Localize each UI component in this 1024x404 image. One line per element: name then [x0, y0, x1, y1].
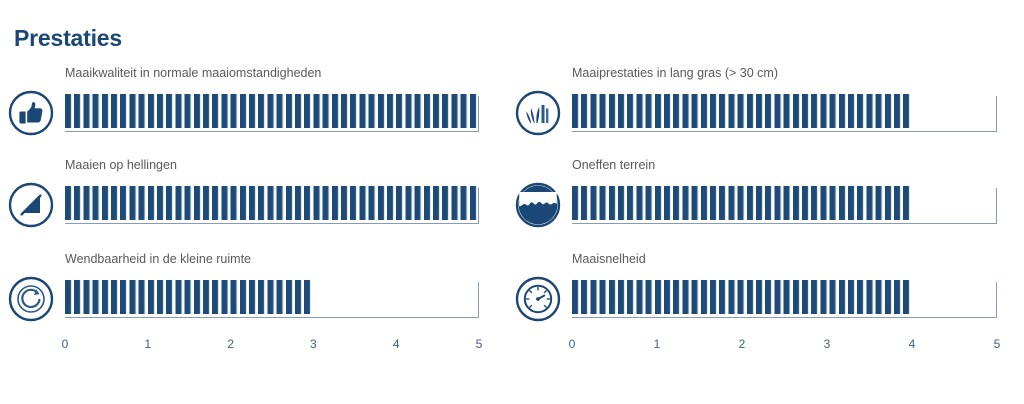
scale-tick-label: 4: [393, 336, 400, 352]
metric-bar-fill: [572, 94, 912, 128]
axis-baseline: [572, 131, 997, 132]
metric-row: Maaien op hellingen: [8, 150, 508, 242]
scale-tick-label: 3: [824, 336, 831, 352]
scale-tick-label: 0: [62, 336, 69, 352]
scale-tick-label: 4: [909, 336, 916, 352]
scale-tick-label: 2: [227, 336, 234, 352]
performance-chart: Maaikwaliteit in normale maaiomstandighe…: [0, 58, 1024, 388]
metric-bar-fill: [572, 186, 912, 220]
thumbs-up-icon: [8, 90, 54, 136]
metric-bar-fill: [572, 280, 912, 314]
metric-label: Wendbaarheid in de kleine ruimte: [65, 251, 251, 267]
metrics-column-right: Maaiprestaties in lang gras (> 30 cm) On…: [515, 58, 1015, 388]
metric-row: Maaikwaliteit in normale maaiomstandighe…: [8, 58, 508, 150]
metric-bar-track: [65, 90, 479, 136]
scale-tick-label: 3: [310, 336, 317, 352]
scale-tick-label: 1: [144, 336, 151, 352]
scale-tick-label: 5: [476, 336, 483, 352]
axis-baseline: [572, 223, 997, 224]
axis-endcap: [478, 282, 479, 318]
metrics-column-left: Maaikwaliteit in normale maaiomstandighe…: [8, 58, 508, 388]
metric-bar-fill: [65, 94, 479, 128]
metric-row: Oneffen terrein: [515, 150, 1015, 242]
uneven-terrain-icon: [515, 182, 561, 228]
slope-icon: [8, 182, 54, 228]
metric-bar-track: [572, 276, 997, 322]
scale-axis-right: 012345: [572, 336, 997, 358]
scale-axis-left: 012345: [65, 336, 479, 358]
axis-baseline: [65, 223, 479, 224]
metric-row: Maaisnelheid: [515, 244, 1015, 336]
metric-label: Maaiprestaties in lang gras (> 30 cm): [572, 65, 778, 81]
metric-bar-track: [572, 182, 997, 228]
speedometer-icon: [515, 276, 561, 322]
axis-endcap: [996, 282, 997, 318]
metric-bar-track: [572, 90, 997, 136]
scale-tick-label: 2: [739, 336, 746, 352]
axis-endcap: [996, 188, 997, 224]
axis-endcap: [478, 188, 479, 224]
page-title: Prestaties: [14, 23, 122, 53]
scale-tick-label: 5: [994, 336, 1001, 352]
axis-baseline: [65, 131, 479, 132]
metric-label: Maaien op hellingen: [65, 157, 177, 173]
axis-baseline: [65, 317, 479, 318]
axis-endcap: [478, 96, 479, 132]
metric-bar-track: [65, 182, 479, 228]
axis-endcap: [996, 96, 997, 132]
metric-label: Maaisnelheid: [572, 251, 646, 267]
metric-bar-fill: [65, 186, 479, 220]
metric-row: Wendbaarheid in de kleine ruimte: [8, 244, 508, 336]
metric-bar-fill: [65, 280, 313, 314]
metric-row: Maaiprestaties in lang gras (> 30 cm): [515, 58, 1015, 150]
metric-bar-track: [65, 276, 479, 322]
tall-grass-icon: [515, 90, 561, 136]
scale-tick-label: 1: [654, 336, 661, 352]
scale-tick-label: 0: [569, 336, 576, 352]
axis-baseline: [572, 317, 997, 318]
metric-label: Maaikwaliteit in normale maaiomstandighe…: [65, 65, 321, 81]
metric-label: Oneffen terrein: [572, 157, 655, 173]
turning-circle-icon: [8, 276, 54, 322]
